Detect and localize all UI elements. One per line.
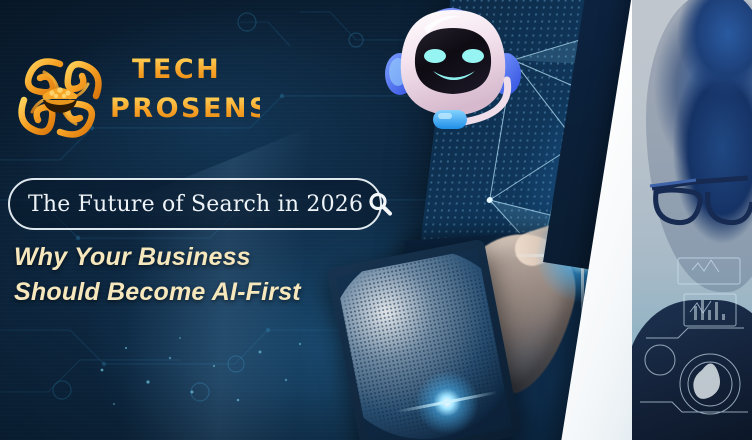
hud-tech-overlay: [632, 252, 752, 440]
headline-line-2: Should Become AI-First: [14, 275, 364, 310]
banner-hero: TECH PROSENSE The Future of Search in 20…: [0, 0, 752, 440]
globe-light-flare: [408, 364, 485, 440]
search-icon[interactable]: [367, 191, 393, 217]
ai-chatbot-robot-mascot: [378, 2, 528, 152]
logo[interactable]: TECH PROSENSE: [14, 52, 264, 144]
logo-line-prosense: PROSENSE: [110, 95, 260, 122]
search-input[interactable]: The Future of Search in 2026: [28, 192, 363, 217]
logo-line-tech: TECH: [132, 56, 260, 83]
search-bar[interactable]: The Future of Search in 2026: [8, 178, 382, 230]
tech-prosense-swirl-brain-logo-icon: [14, 54, 106, 142]
eyeglasses-icon: [646, 172, 752, 234]
logo-wordmark: TECH PROSENSE: [110, 56, 260, 142]
headline-line-1: Why Your Business: [14, 243, 251, 271]
portrait-pane: [632, 0, 752, 440]
page-title: Why Your Business Should Become AI-First: [14, 240, 364, 309]
